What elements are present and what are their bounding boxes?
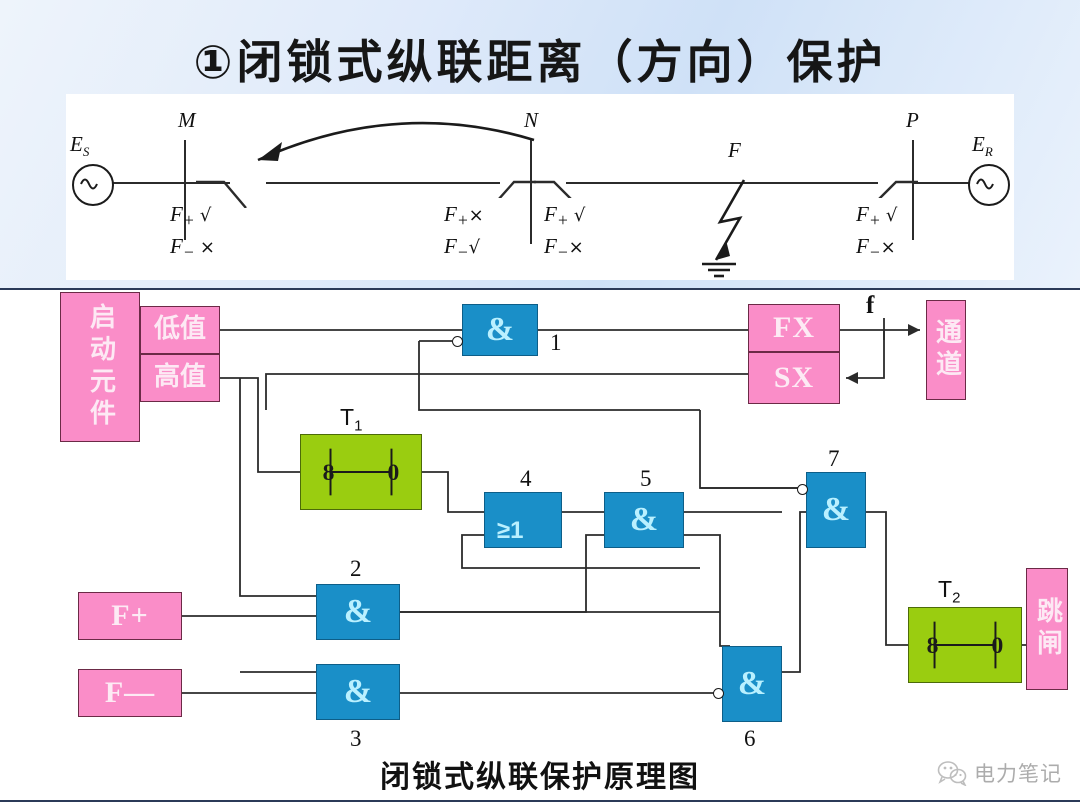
gate-1-number: 1 [550,330,562,356]
trip-block[interactable]: 跳闸 [1026,568,1068,690]
svg-text:0: 0 [388,460,400,486]
directional-fminus-block[interactable]: F— [78,669,182,717]
gate-3-and[interactable]: & [316,664,400,720]
directional-fminus-label: F— [105,676,155,710]
arrow-to-channel [908,324,920,336]
gate-5-number: 5 [640,466,652,492]
gate-7-invert-bubble-icon [797,484,808,495]
sx-label: SX [774,361,814,395]
start-element-block[interactable]: 启动元件 [60,292,140,442]
timer-t1-block[interactable]: 8 0 [300,434,422,510]
gate-1-symbol: & [486,313,514,347]
watermark-text: 电力笔记 [974,758,1062,788]
gate-7-number: 7 [828,446,840,472]
gate-6-invert-bubble-icon [713,688,724,699]
timer-t2-label: T2 [938,576,960,607]
gate-5-and[interactable]: & [604,492,684,548]
gate-4-number: 4 [520,466,532,492]
fx-block[interactable]: FX [748,304,840,352]
threshold-high-block[interactable]: 高值 [140,354,220,402]
gate-6-number: 6 [744,726,756,752]
gate-2-number: 2 [350,556,362,582]
start-element-label: 启动元件 [85,303,114,431]
gate-4-or[interactable]: ≥1 [484,492,562,548]
gate-6-and[interactable]: & [722,646,782,722]
timer-t2-block[interactable]: 8 0 [908,607,1022,683]
threshold-low-block[interactable]: 低值 [140,306,220,354]
gate-7-symbol: & [822,493,850,527]
gate-1-and[interactable]: & [462,304,538,356]
figure-caption: 闭锁式纵联保护原理图 [0,752,1080,796]
watermark: 电力笔记 [937,758,1062,788]
channel-signal-label: f [866,292,874,320]
timer-t1-label: T1 [340,404,362,435]
svg-text:0: 0 [992,633,1004,659]
wechat-icon [937,760,967,786]
directional-fplus-label: F+ [111,599,148,633]
channel-label: 通道 [931,318,960,382]
sx-block[interactable]: SX [748,352,840,404]
channel-block[interactable]: 通道 [926,300,966,400]
gate-2-and[interactable]: & [316,584,400,640]
directional-fplus-block[interactable]: F+ [78,592,182,640]
threshold-high-label: 高值 [154,363,206,392]
gate-6-symbol: & [738,667,766,701]
svg-text:8: 8 [927,633,939,659]
trip-label: 跳闸 [1032,597,1061,661]
gate-4-symbol: ≥1 [489,517,561,545]
threshold-low-label: 低值 [154,315,206,344]
gate-3-symbol: & [344,675,372,709]
gate-2-symbol: & [344,595,372,629]
slide-root: ①闭锁式纵联距离（方向）保护 ES M F+ √ F− × N [0,0,1080,810]
svg-text:8: 8 [323,460,335,486]
gate-5-symbol: & [630,503,658,537]
gate-7-and[interactable]: & [806,472,866,548]
fx-label: FX [773,311,815,345]
gate-3-number: 3 [350,726,362,752]
gate-1-invert-bubble-icon [452,336,463,347]
arrow-to-sx [846,372,858,384]
